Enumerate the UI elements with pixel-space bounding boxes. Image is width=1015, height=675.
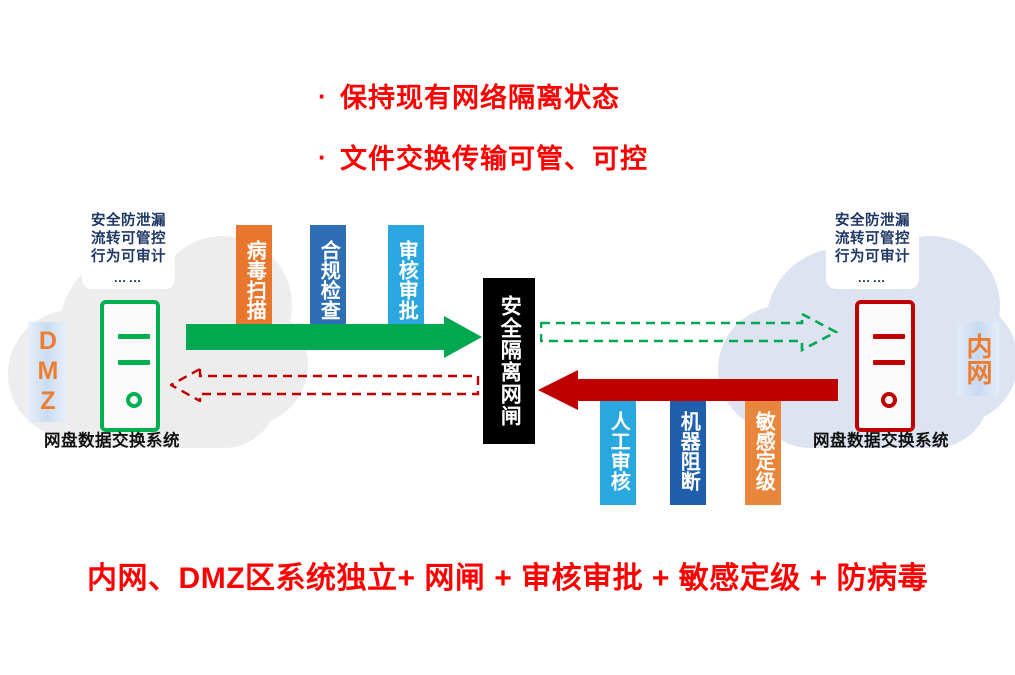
bullet-text-2: 文件交换传输可管、可控 xyxy=(340,137,648,176)
arrow-intranet-to-gateway xyxy=(538,370,838,410)
bubble-ellipsis: …… xyxy=(91,270,166,285)
server-icon-dmz xyxy=(100,300,160,432)
arrow-gateway-to-dmz xyxy=(170,368,480,402)
zone-label-intranet: 内网 xyxy=(957,322,999,396)
security-gateway-label: 安全隔离网闸 xyxy=(497,295,522,427)
control-tag-label: 敏感定级 xyxy=(752,411,774,491)
control-tag-label: 人工审核 xyxy=(607,411,629,491)
bullet-text-1: 保持现有网络隔离状态 xyxy=(340,76,620,115)
diagram-canvas: · 保持现有网络隔离状态 · 文件交换传输可管、可控 DMZ 内网 安全防泄漏 … xyxy=(0,0,1015,675)
server-icon-intranet xyxy=(855,300,915,432)
dmz-system-label: 网盘数据交换系统 xyxy=(44,427,180,451)
control-tag-manual-review[interactable]: 人工审核 xyxy=(600,397,636,505)
bullet-item-2: · 文件交换传输可管、可控 xyxy=(318,137,918,176)
zone-label-dmz: DMZ xyxy=(28,322,66,422)
intranet-system-label: 网盘数据交换系统 xyxy=(813,427,949,451)
zone-dmz-text: DMZ xyxy=(34,327,60,417)
summary-formula: 内网、DMZ区系统独立+ 网闸 + 审核审批 + 敏感定级 + 防病毒 xyxy=(0,553,1015,597)
arrow-gateway-to-intranet xyxy=(540,312,838,352)
bubble-line: 安全防泄漏 xyxy=(91,213,166,231)
bullet-list: · 保持现有网络隔离状态 · 文件交换传输可管、可控 xyxy=(318,76,918,198)
dmz-capability-bubble: 安全防泄漏 流转可管控 行为可审计 …… xyxy=(82,206,175,289)
security-gateway-box[interactable]: 安全隔离网闸 xyxy=(483,278,535,444)
bullet-marker-icon: · xyxy=(318,83,340,109)
bubble-line: 流转可管控 xyxy=(835,231,910,249)
bubble-line: 流转可管控 xyxy=(91,231,166,249)
intranet-capability-bubble: 安全防泄漏 流转可管控 行为可审计 …… xyxy=(826,206,919,289)
arrow-dmz-to-gateway xyxy=(186,316,486,358)
zone-intranet-text: 内网 xyxy=(965,333,991,385)
control-tag-machine-block[interactable]: 机器阻断 xyxy=(670,397,706,505)
bullet-item-1: · 保持现有网络隔离状态 xyxy=(318,76,918,115)
control-tag-label: 病毒扫描 xyxy=(243,240,265,320)
control-tag-label: 合规检查 xyxy=(317,240,339,320)
bubble-line: 行为可审计 xyxy=(91,249,166,267)
bullet-marker-icon: · xyxy=(318,144,340,170)
bubble-line: 安全防泄漏 xyxy=(835,213,910,231)
bubble-ellipsis: …… xyxy=(835,270,910,285)
control-tag-sensitive-grading[interactable]: 敏感定级 xyxy=(745,397,781,505)
control-tag-label: 机器阻断 xyxy=(677,411,699,491)
control-tag-label: 审核审批 xyxy=(395,240,417,320)
bubble-line: 行为可审计 xyxy=(835,249,910,267)
